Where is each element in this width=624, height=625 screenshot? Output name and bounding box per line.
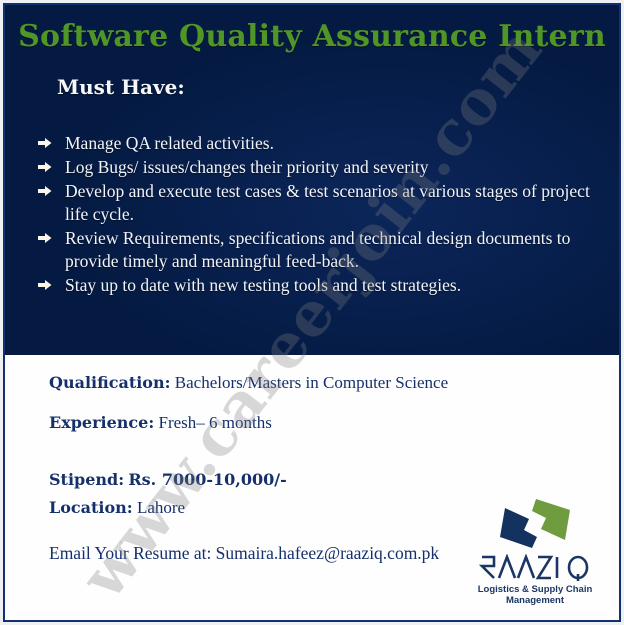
list-item: Manage QA related activities. — [35, 132, 593, 155]
duty-text: Review Requirements, specifications and … — [65, 228, 570, 271]
email-label: Email Your Resume at: — [49, 543, 211, 563]
logo-tagline-line2: Management — [471, 595, 599, 606]
job-poster: Software Quality Assurance Intern Must H… — [0, 0, 624, 625]
stipend-value: Rs. 7000-10,000/- — [128, 470, 286, 489]
list-item: Log Bugs/ issues/changes their priority … — [35, 156, 593, 179]
right-arrow-icon — [37, 160, 55, 176]
email-value[interactable]: Sumaira.hafeez@raaziq.com.pk — [216, 543, 440, 563]
location-row: Location: Lahore — [49, 498, 185, 518]
experience-row: Experience: Fresh– 6 months — [49, 413, 272, 433]
list-item: Review Requirements, specifications and … — [35, 227, 593, 273]
page-title: Software Quality Assurance Intern — [5, 19, 619, 54]
right-arrow-icon — [37, 136, 55, 152]
poster-frame: Software Quality Assurance Intern Must H… — [3, 3, 621, 622]
email-row: Email Your Resume at: Sumaira.hafeez@raa… — [49, 543, 439, 564]
stipend-row: Stipend: Rs. 7000-10,000/- — [49, 470, 287, 490]
right-arrow-icon — [37, 278, 55, 294]
right-arrow-icon — [37, 184, 55, 200]
list-item: Develop and execute test cases & test sc… — [35, 180, 593, 226]
duties-list: Manage QA related activities. Log Bugs/ … — [35, 132, 593, 298]
duty-text: Develop and execute test cases & test sc… — [65, 181, 590, 224]
list-item: Stay up to date with new testing tools a… — [35, 274, 593, 297]
experience-value: Fresh– 6 months — [159, 413, 272, 432]
experience-label: Experience: — [49, 413, 154, 432]
raaziq-logo-mark-icon — [496, 496, 574, 552]
location-value: Lahore — [137, 498, 185, 517]
details-panel: Qualification: Bachelors/Masters in Comp… — [5, 355, 619, 620]
requirements-panel: Software Quality Assurance Intern Must H… — [5, 5, 619, 355]
stipend-label: Stipend: — [49, 470, 124, 489]
right-arrow-icon — [37, 231, 55, 247]
location-label: Location: — [49, 498, 133, 517]
qualification-row: Qualification: Bachelors/Masters in Comp… — [49, 373, 448, 393]
logo-tagline: Logistics & Supply Chain Management — [471, 584, 599, 606]
logo-tagline-line1: Logistics & Supply Chain — [471, 584, 599, 595]
duty-text: Log Bugs/ issues/changes their priority … — [65, 157, 429, 177]
company-logo: Logistics & Supply Chain Management — [471, 496, 599, 606]
qualification-value: Bachelors/Masters in Computer Science — [175, 373, 448, 392]
raaziq-wordmark — [471, 554, 599, 581]
duty-text: Manage QA related activities. — [65, 133, 274, 153]
duty-text: Stay up to date with new testing tools a… — [65, 275, 461, 295]
qualification-label: Qualification: — [49, 373, 171, 392]
section-heading-must-have: Must Have: — [57, 75, 185, 99]
